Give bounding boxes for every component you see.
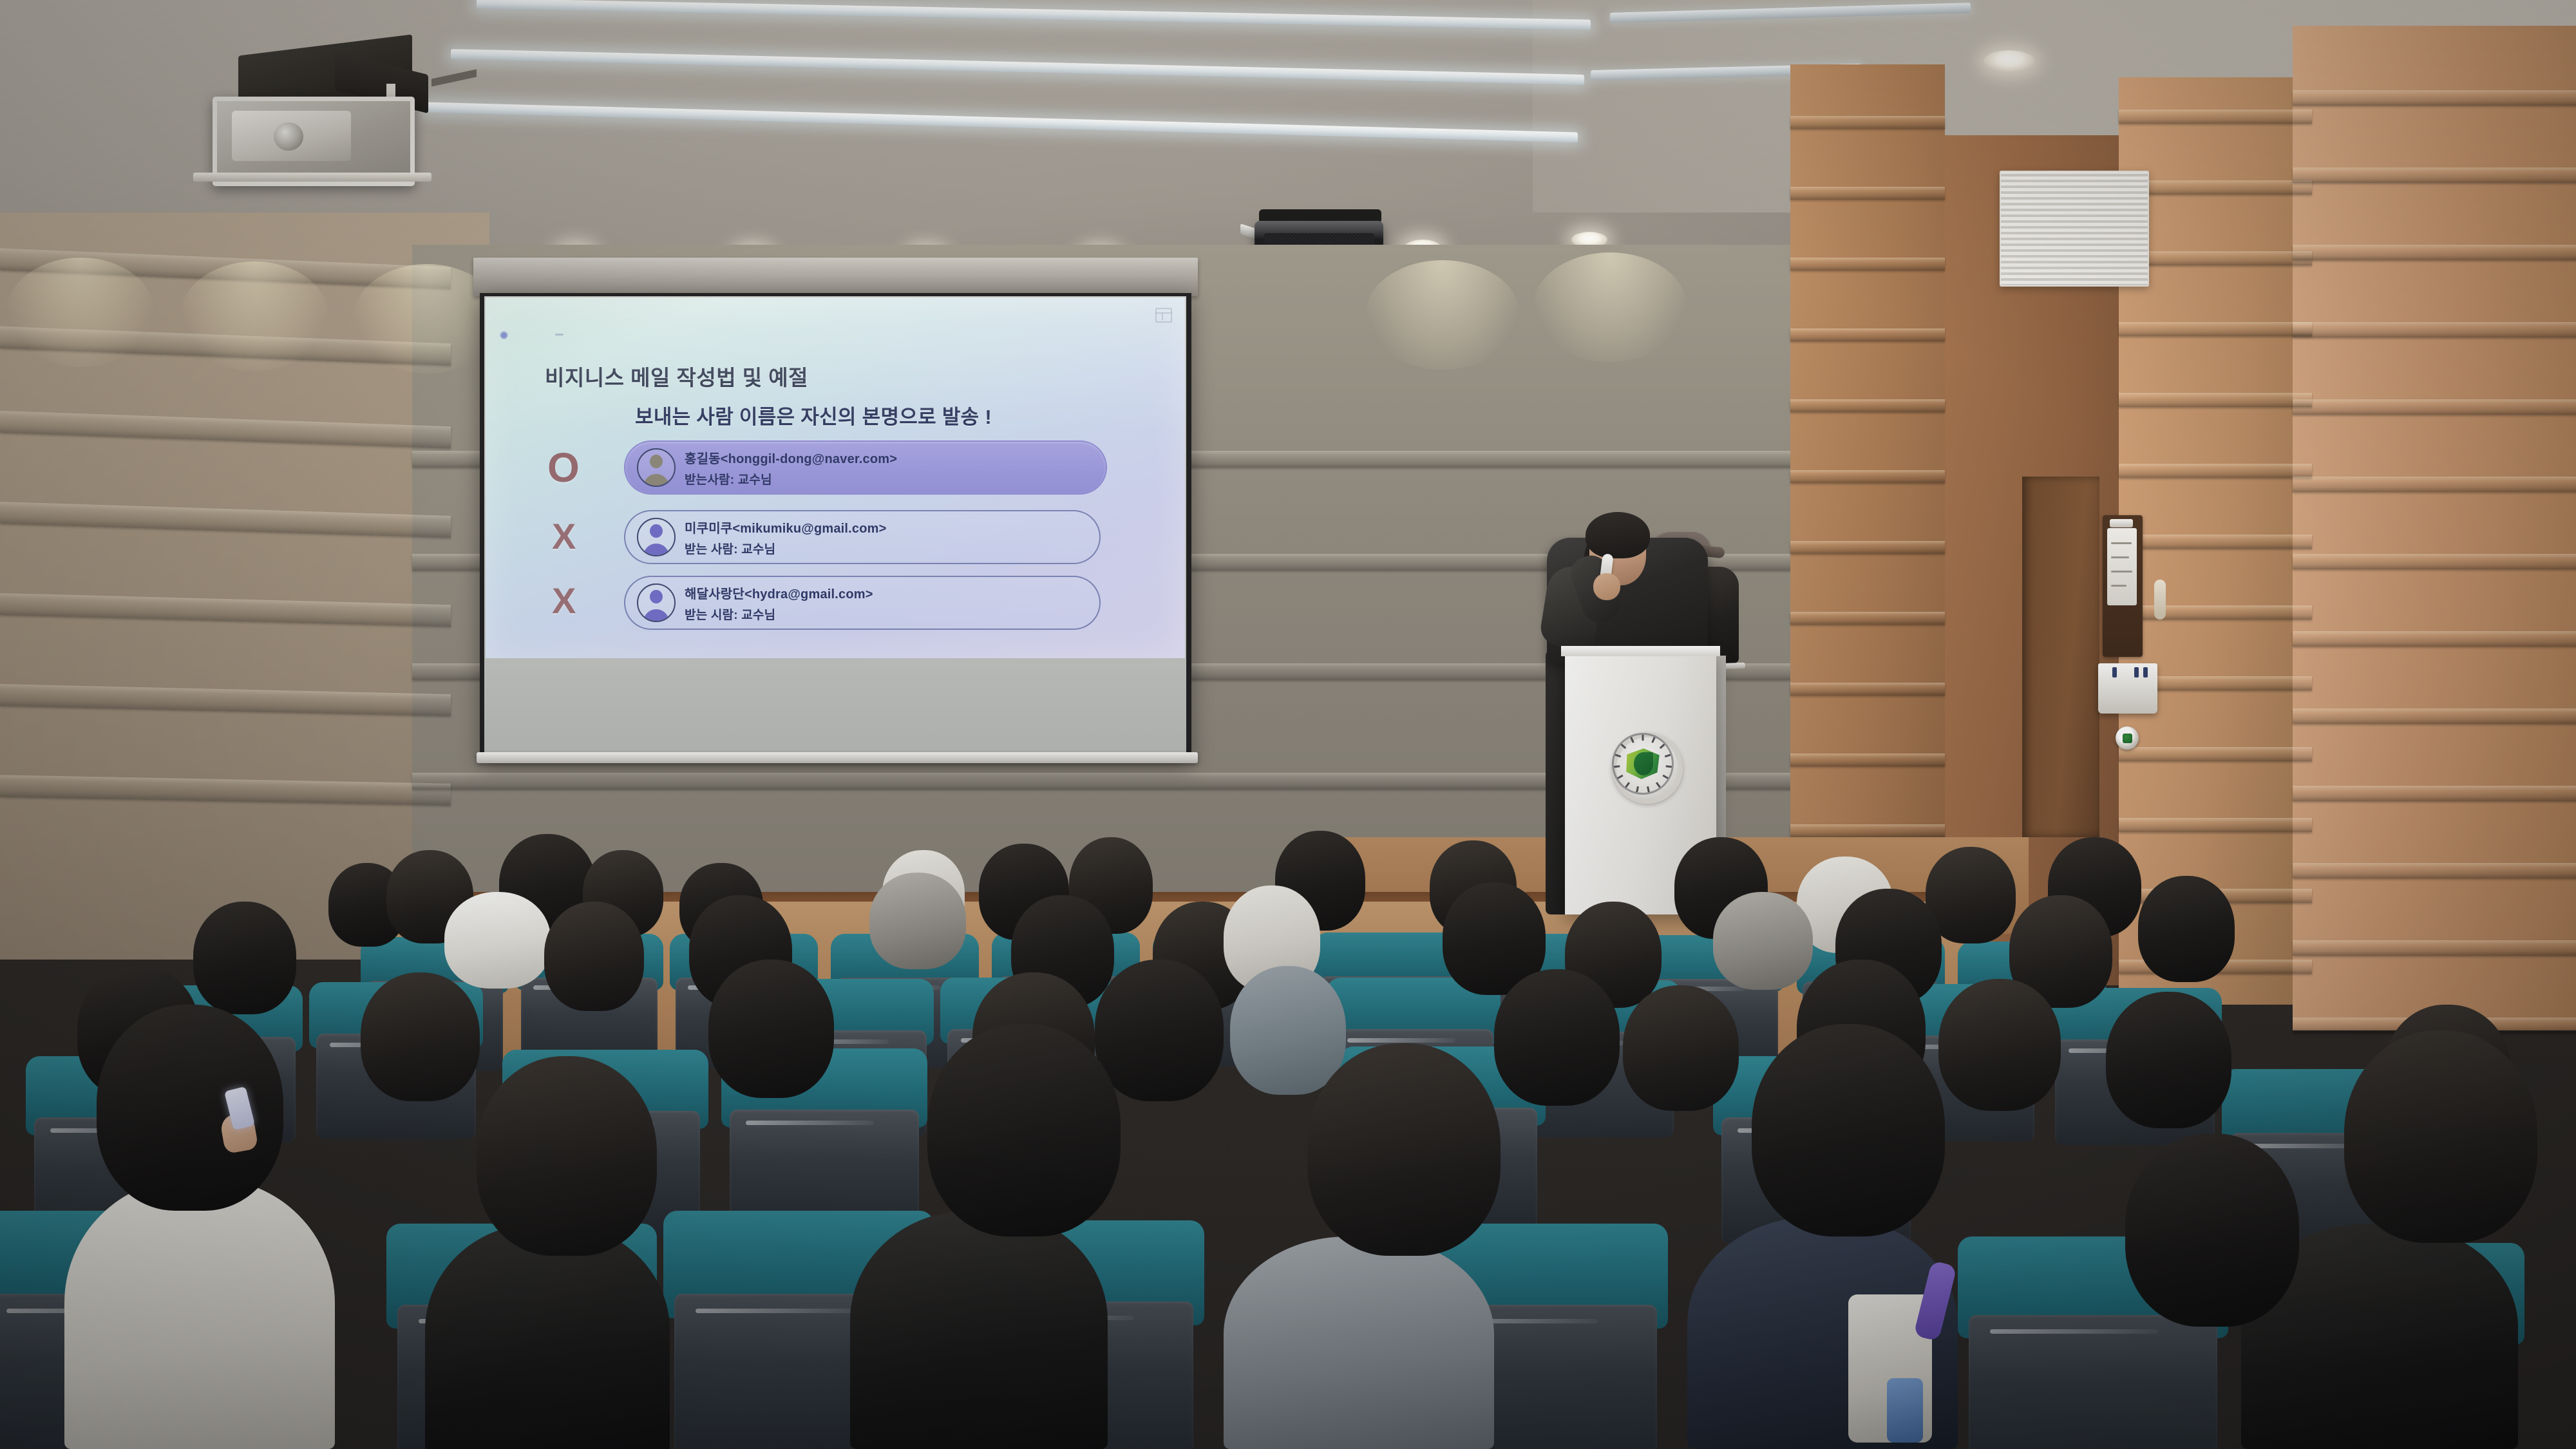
mark-incorrect-x: X [552,518,576,554]
presenter-hair [1586,512,1650,558]
avatar [637,583,676,622]
wall-light-glow [180,261,328,371]
audience-head [1307,1043,1501,1256]
email-row-1: 홍길동<honggil-dong@naver.com> 받는사람: 교수님 [624,440,1107,495]
audience-torso [64,1179,335,1449]
audience-head [1095,960,1224,1101]
wood-slat [2293,631,2576,647]
mark-incorrect-x: X [552,583,576,619]
avatar [637,448,676,487]
wood-slat [2293,708,2576,724]
audience-head [193,902,296,1014]
wood-slat [1790,399,1945,412]
wood-slat [2119,605,2312,620]
wood-slat [2293,245,2576,260]
audience-torso [1224,1236,1494,1449]
wood-slat [2293,322,2576,337]
wood-slat [1790,258,1945,270]
wood-slat [2119,322,2312,336]
table-grid-icon [1155,308,1172,323]
screen-housing [473,258,1198,296]
wood-slat [1790,541,1945,554]
slide-subtitle: 보내는 사람 이름은 자신의 본명으로 발송 ! [635,401,992,430]
audience-head [1623,985,1739,1111]
audience-head [927,1024,1121,1236]
wood-slat [1790,824,1945,837]
projected-slide: 비지니스 메일 작성법 및 예절 보내는 사람 이름은 자신의 본명으로 발송 … [486,298,1185,658]
wood-slat [2119,535,2312,549]
audience-head-cap [1713,892,1813,990]
audience-head-hooded [1230,966,1346,1095]
recipient-line: 받는 사람: 교수님 [685,540,887,557]
wall-light-glow [1365,260,1520,370]
sender-address: 해달사랑단<hydra@gmail.com> [685,583,873,602]
wood-slat [2119,393,2312,407]
email-row-2: 미쿠미쿠<mikumiku@gmail.com> 받는 사람: 교수님 [624,510,1101,564]
wood-slat [2119,109,2312,124]
panel-button-icon[interactable] [2110,519,2133,527]
audience-head [2138,876,2235,982]
slide-title: 비지니스 메일 작성법 및 예절 [545,361,808,392]
audience-head [544,902,644,1011]
slide-decoration-dash [555,334,563,336]
door-handle[interactable] [2154,580,2166,620]
audience-head [1494,969,1620,1106]
wall-light-glow [6,258,155,367]
audience-head [1938,979,2061,1111]
audience-head-cap [444,892,551,989]
wall-light-glow [1533,252,1687,362]
audience-head-beanie [869,873,966,969]
mark-correct-o: O [547,447,580,488]
audience-torso [425,1224,670,1449]
recipient-line: 받는사람: 교수님 [685,470,897,488]
wood-slat [1790,470,1945,483]
wood-slat [2293,90,2576,106]
sender-address: 미쿠미쿠<mikumiku@gmail.com> [685,518,887,536]
audience-head [477,1056,657,1256]
wood-slat [2293,167,2576,183]
bag-accessory [1887,1378,1923,1443]
avatar [637,518,676,556]
wood-slat [1790,753,1945,766]
panel-label-card [2107,528,2137,605]
sender-address: 홍길동<honggil-dong@naver.com> [685,448,897,467]
audience-head [2344,1030,2537,1243]
audience-head [2106,992,2231,1128]
logo-emblem-inner [1634,752,1653,775]
projector-lens [274,122,303,151]
wood-slat [2293,940,2576,956]
podium-top [1561,646,1720,656]
wood-slat [1790,328,1945,341]
audience-torso [850,1211,1108,1449]
screen-bottom-bar [477,752,1198,763]
wood-slat [2293,863,2576,878]
slide-decoration-dot [500,331,508,339]
document-holder [2098,663,2157,714]
presenter-hand [1593,573,1620,600]
wall-air-vent [2000,171,2149,287]
wood-slat [2293,786,2576,801]
email-row-3: 해달사랑단<hydra@gmail.com> 받는 시람: 교수님 [624,576,1101,630]
projector-shelf [193,173,431,182]
wood-slat [2293,399,2576,415]
audience-head [708,960,834,1098]
wood-slat [2119,464,2312,478]
wood-slat [1790,683,1945,696]
auditorium-scene: 비지니스 메일 작성법 및 예절 보내는 사람 이름은 자신의 본명으로 발송 … [0,0,2576,1449]
wood-slat [2293,554,2576,569]
recipient-line: 받는 시람: 교수님 [685,605,873,623]
wood-slat [1790,612,1945,625]
side-door-recess[interactable] [2022,477,2099,837]
wood-slat [2119,818,2312,832]
wood-slat [2293,477,2576,492]
audience-head [2125,1133,2299,1327]
audience-head [97,1005,283,1211]
audience-head [361,972,480,1101]
wood-slat [1790,187,1945,200]
ceiling-downlight [1984,50,2035,72]
audience-head [1752,1024,1945,1236]
emergency-button-indicator [2123,734,2132,743]
wood-slat [1790,116,1945,129]
wood-slat [2119,747,2312,761]
